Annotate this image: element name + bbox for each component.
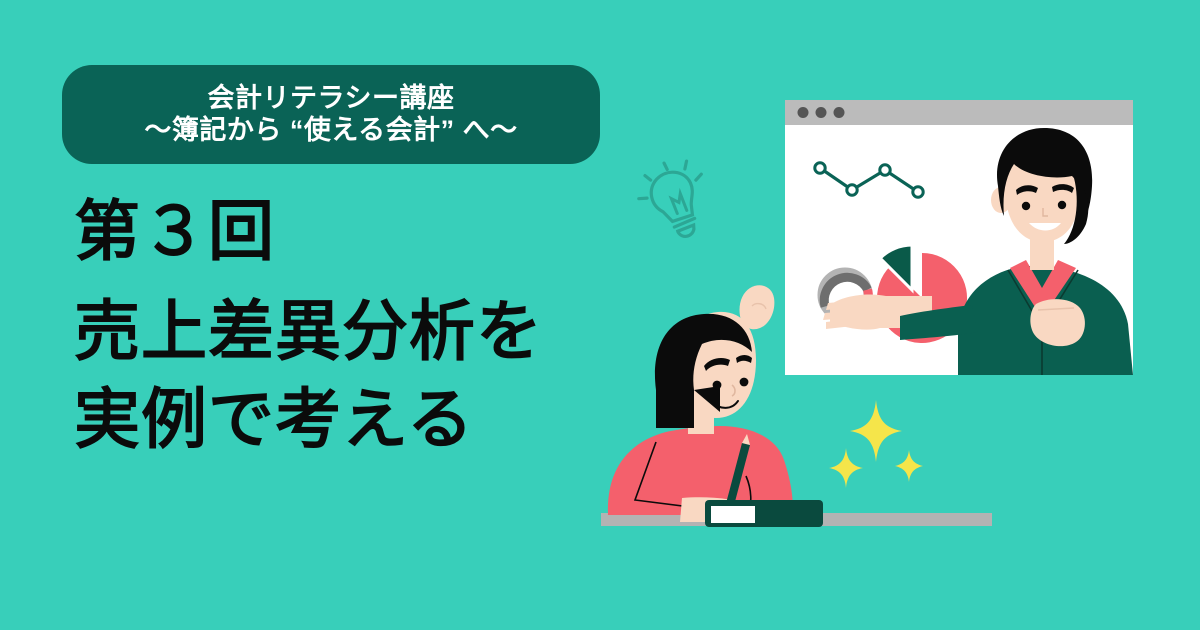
student-eye-left: [713, 381, 722, 390]
sparkle-medium: [829, 448, 863, 488]
badge-line-2: 〜簿記から “使える会計” へ〜: [144, 115, 517, 147]
browser-dot-3: [834, 107, 845, 118]
page-title: 第３回 売上差異分析を 実例で考える: [74, 198, 634, 452]
headline-line-3: 実例で考える: [74, 386, 634, 452]
sparkle-small: [895, 450, 923, 482]
headline-line-2: 売上差異分析を: [74, 298, 634, 364]
student-eye-right: [740, 378, 749, 387]
line-chart-point-3: [880, 165, 890, 175]
browser-dot-2: [816, 107, 827, 118]
notebook: [705, 500, 823, 527]
student-figure: [608, 285, 793, 522]
browser-dot-1: [798, 107, 809, 118]
line-chart-point-2: [847, 185, 857, 195]
presenter-eye-right: [1058, 201, 1066, 209]
headline-episode-number: 第３回: [74, 198, 634, 264]
sparkles-icon: [829, 400, 923, 488]
line-chart-point-4: [913, 187, 923, 197]
sparkle-large: [850, 400, 902, 462]
course-badge: 会計リテラシー講座 〜簿記から “使える会計” へ〜: [62, 65, 600, 164]
badge-line-1: 会計リテラシー講座: [208, 83, 455, 115]
line-chart-point-1: [815, 163, 825, 173]
presenter-eye-left: [1022, 202, 1030, 210]
poster-canvas: 会計リテラシー講座 〜簿記から “使える会計” へ〜 第３回 売上差異分析を 実…: [0, 0, 1200, 630]
lightbulb-icon: [631, 153, 718, 247]
notebook-page: [711, 506, 755, 523]
illustration: [580, 60, 1200, 570]
